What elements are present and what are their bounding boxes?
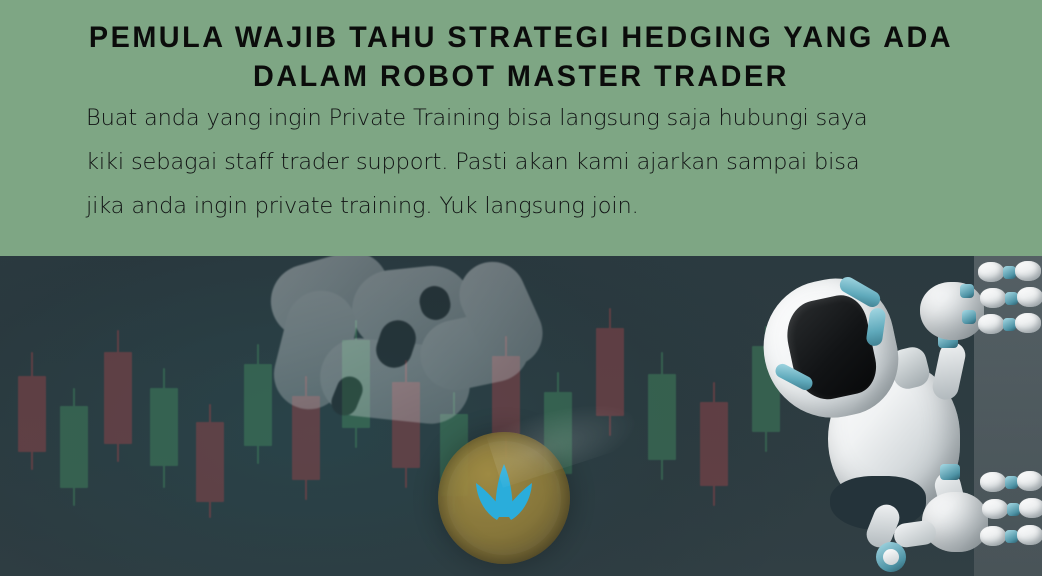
robot-hand-image (120, 256, 540, 460)
header-section: PEMULA WAJIB TAHU STRATEGI HEDGING YANG … (0, 0, 1042, 256)
candle-body (60, 406, 88, 488)
body-line-2: kiki sebagai staff trader support. Pasti… (86, 140, 960, 184)
candle-body (596, 328, 624, 416)
header-body-copy: Buat anda yang ingin Private Training bi… (40, 96, 1002, 228)
body-line-1: Buat anda yang ingin Private Training bi… (86, 96, 960, 140)
title-line-2: DALAM ROBOT MASTER TRADER (59, 57, 983, 96)
candle-body (18, 376, 46, 452)
brand-coin-logo (438, 432, 570, 564)
media-stage: AUTO (0, 256, 1042, 576)
promo-banner: PEMULA WAJIB TAHU STRATEGI HEDGING YANG … (0, 0, 1042, 576)
title-line-1: PEMULA WAJIB TAHU STRATEGI HEDGING YANG … (89, 21, 953, 54)
robot-mascot-image (742, 256, 1042, 576)
candle-body (700, 402, 728, 486)
page-title: PEMULA WAJIB TAHU STRATEGI HEDGING YANG … (59, 18, 983, 96)
lotus-logo-icon (465, 461, 543, 535)
candle-body (648, 374, 676, 460)
body-line-3: jika anda ingin private training. Yuk la… (86, 184, 960, 228)
